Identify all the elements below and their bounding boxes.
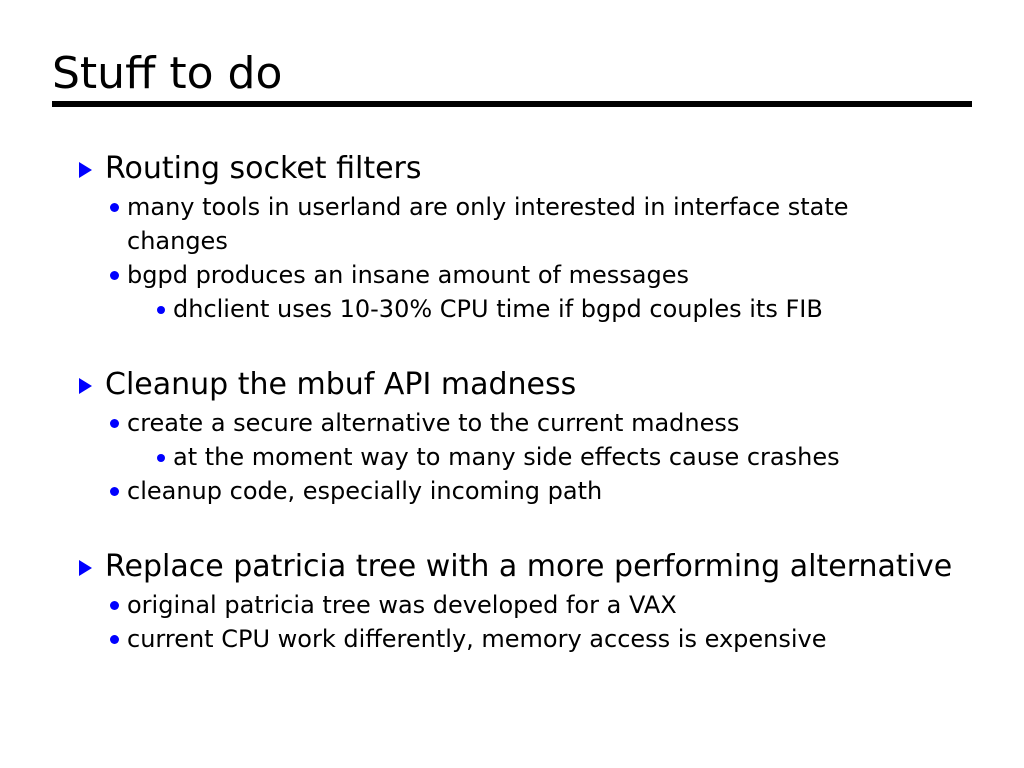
triangle-right-icon [79, 378, 92, 394]
bullet-group: Cleanup the mbuf API madness create a se… [0, 364, 1024, 508]
triangle-right-icon [79, 560, 92, 576]
dot-icon [110, 203, 119, 212]
title-underline-rule [52, 101, 972, 107]
bullet-level2: many tools in userland are only interest… [0, 190, 1024, 258]
bullet-level3: dhclient uses 10-30% CPU time if bgpd co… [0, 292, 1024, 326]
bullet-level2-label: create a secure alternative to the curre… [127, 406, 924, 440]
bullet-level2-label: cleanup code, especially incoming path [127, 474, 924, 508]
triangle-right-icon [79, 162, 92, 178]
dot-icon [110, 419, 119, 428]
dot-icon [110, 601, 119, 610]
bullet-group: Replace patricia tree with a more perfor… [0, 546, 1024, 656]
bullet-level2-label: original patricia tree was developed for… [127, 588, 924, 622]
dot-icon [110, 635, 119, 644]
page-title: Stuff to do [52, 48, 972, 100]
bullet-level1-label: Routing socket filters [105, 148, 984, 190]
bullet-level2: original patricia tree was developed for… [0, 588, 1024, 622]
bullet-level2-label: current CPU work differently, memory acc… [127, 622, 924, 656]
bullet-level2-label: bgpd produces an insane amount of messag… [127, 258, 924, 292]
bullet-level2: bgpd produces an insane amount of messag… [0, 258, 1024, 292]
bullet-level1: Routing socket filters [0, 148, 1024, 190]
dot-icon [110, 487, 119, 496]
bullet-level3-label: at the moment way to many side effects c… [173, 440, 964, 474]
bullet-level2: current CPU work differently, memory acc… [0, 622, 1024, 656]
bullet-level3: at the moment way to many side effects c… [0, 440, 1024, 474]
bullet-group: Routing socket filters many tools in use… [0, 148, 1024, 326]
bullet-level2: cleanup code, especially incoming path [0, 474, 1024, 508]
bullet-level2: create a secure alternative to the curre… [0, 406, 1024, 440]
bullet-level1: Replace patricia tree with a more perfor… [0, 546, 1024, 588]
bullet-level1-label: Replace patricia tree with a more perfor… [105, 546, 984, 588]
dot-icon [110, 271, 119, 280]
slide-body: Routing socket filters many tools in use… [0, 148, 1024, 656]
dot-icon [157, 454, 165, 462]
dot-icon [157, 306, 165, 314]
bullet-level2-label: many tools in userland are only interest… [127, 190, 924, 258]
bullet-level1-label: Cleanup the mbuf API madness [105, 364, 984, 406]
bullet-level3-label: dhclient uses 10-30% CPU time if bgpd co… [173, 292, 964, 326]
slide: Stuff to do Routing socket filters many … [0, 0, 1024, 768]
bullet-level1: Cleanup the mbuf API madness [0, 364, 1024, 406]
